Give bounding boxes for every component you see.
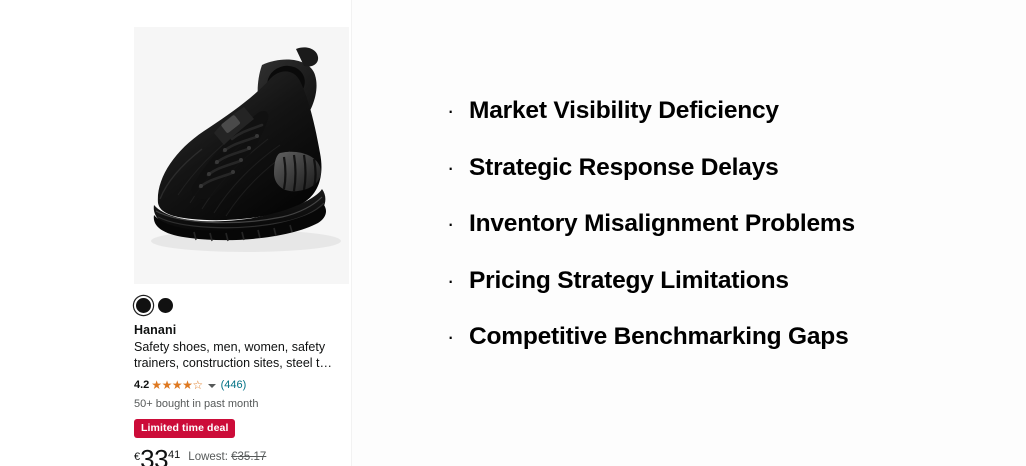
lowest-price-label: Lowest: <box>188 451 228 463</box>
list-item-label: Strategic Response Delays <box>461 155 779 181</box>
list-item: · Strategic Response Delays <box>443 155 1003 212</box>
product-info: Hanani Safety shoes, men, women, safety … <box>134 284 349 466</box>
list-item-label: Pricing Strategy Limitations <box>461 268 789 294</box>
list-item-label: Inventory Misalignment Problems <box>461 211 855 237</box>
price-row: € 33 41 Lowest: €35.17 <box>134 446 349 466</box>
star-filled-icon: ★ <box>182 379 192 391</box>
issues-bullet-list: · Market Visibility Deficiency · Strateg… <box>443 98 1003 381</box>
bullet-marker-icon: · <box>443 98 461 124</box>
product-title[interactable]: Safety shoes, men, women, safety trainer… <box>134 339 339 371</box>
rating-value: 4.2 <box>134 379 149 391</box>
product-image-panel[interactable] <box>134 27 349 284</box>
product-brand[interactable]: Hanani <box>134 322 349 338</box>
bullet-marker-icon: · <box>443 211 461 237</box>
color-swatch-black[interactable] <box>158 298 173 313</box>
list-item: · Inventory Misalignment Problems <box>443 211 1003 268</box>
color-swatch-list[interactable] <box>136 298 349 313</box>
list-item: · Competitive Benchmarking Gaps <box>443 324 1003 381</box>
star-filled-icon: ★ <box>172 379 182 391</box>
pane-divider <box>351 0 352 466</box>
price-whole: 33 <box>140 446 168 466</box>
star-filled-icon: ★ <box>162 379 172 391</box>
bullet-marker-icon: · <box>443 324 461 350</box>
price-current: € 33 41 <box>134 446 180 466</box>
lowest-price-value: €35.17 <box>231 451 266 463</box>
bought-note: 50+ bought in past month <box>134 397 349 411</box>
lowest-price: Lowest: €35.17 <box>188 451 266 463</box>
shoe-product-image <box>134 27 349 284</box>
list-item-label: Competitive Benchmarking Gaps <box>461 324 849 350</box>
list-item: · Pricing Strategy Limitations <box>443 268 1003 325</box>
star-filled-icon: ★ <box>151 379 161 391</box>
color-swatch-black-selected[interactable] <box>136 298 151 313</box>
product-rating[interactable]: 4.2 ★ ★ ★ ★ ☆ (446) <box>134 378 349 392</box>
chevron-down-icon[interactable] <box>208 384 216 388</box>
review-count-link[interactable]: (446) <box>221 379 247 391</box>
price-fraction: 41 <box>168 449 180 462</box>
list-item: · Market Visibility Deficiency <box>443 98 1003 155</box>
star-rating-icon[interactable]: ★ ★ ★ ★ ☆ <box>151 379 202 391</box>
bullet-marker-icon: · <box>443 268 461 294</box>
list-item-label: Market Visibility Deficiency <box>461 98 779 124</box>
star-empty-icon: ☆ <box>192 379 202 391</box>
product-card[interactable]: Hanani Safety shoes, men, women, safety … <box>134 27 349 466</box>
deal-badge: Limited time deal <box>134 419 235 438</box>
bullet-marker-icon: · <box>443 155 461 181</box>
screen-root: Hanani Safety shoes, men, women, safety … <box>0 0 1026 466</box>
